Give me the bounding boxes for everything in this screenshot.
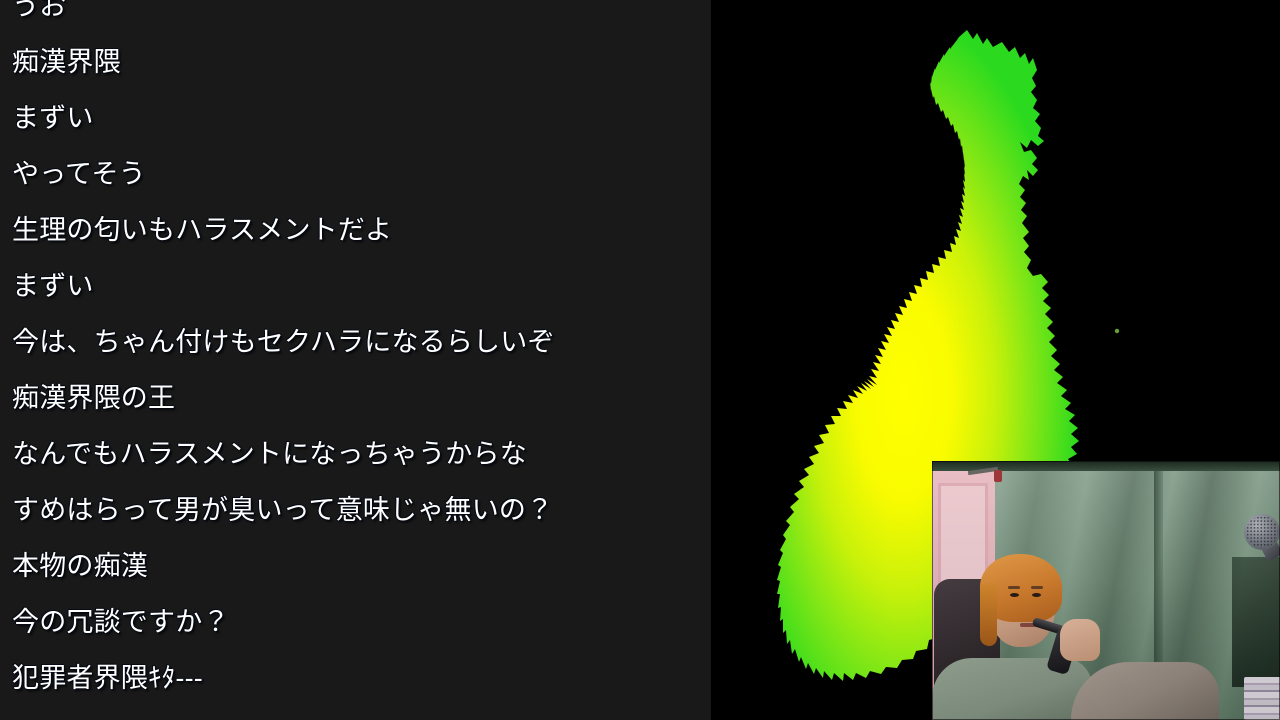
person-eye-left (1010, 593, 1019, 597)
chat-message: なんでもハラスメントになっちゃうからな (0, 426, 711, 482)
chat-message: 痴漢界隈 (0, 34, 711, 90)
chat-message: 今の冗談ですか？ (0, 594, 711, 650)
chat-message: やってそう (0, 146, 711, 202)
chat-message-list: うお 痴漢界隈 まずい やってそう 生理の匂いもハラスメントだよ まずい 今は、… (0, 0, 711, 706)
stream-screen: うお 痴漢界隈 まずい やってそう 生理の匂いもハラスメントだよ まずい 今は、… (0, 0, 1280, 720)
background-shadow (1232, 557, 1280, 687)
person-eyebrow-left (1008, 586, 1020, 589)
person-hair-side (980, 583, 997, 646)
live-chat-panel[interactable]: うお 痴漢界隈 まずい やってそう 生理の匂いもハラスメントだよ まずい 今は、… (0, 0, 711, 720)
microphone-grille (1246, 516, 1278, 548)
chat-message: うお (0, 0, 711, 34)
person-hand (1060, 619, 1100, 661)
person-eyebrow-right (1031, 586, 1043, 589)
chat-message: すめはらって男が臭いって意味じゃ無いの？ (0, 482, 711, 538)
chat-message: まずい (0, 258, 711, 314)
person-eye-right (1032, 593, 1041, 597)
curtain-seam (1154, 461, 1163, 691)
chat-message: まずい (0, 90, 711, 146)
chat-message: 本物の痴漢 (0, 538, 711, 594)
curtain-clip (994, 470, 1002, 482)
chat-message: 今は、ちゃん付けもセクハラになるらしいぞ (0, 314, 711, 370)
chat-message: 犯罪者界隈ｷﾀ--- (0, 650, 711, 706)
chat-message: 生理の匂いもハラスメントだよ (0, 202, 711, 258)
streamer-webcam-overlay[interactable] (932, 461, 1280, 720)
chat-message: 痴漢界隈の王 (0, 370, 711, 426)
book-stack (1244, 677, 1280, 720)
